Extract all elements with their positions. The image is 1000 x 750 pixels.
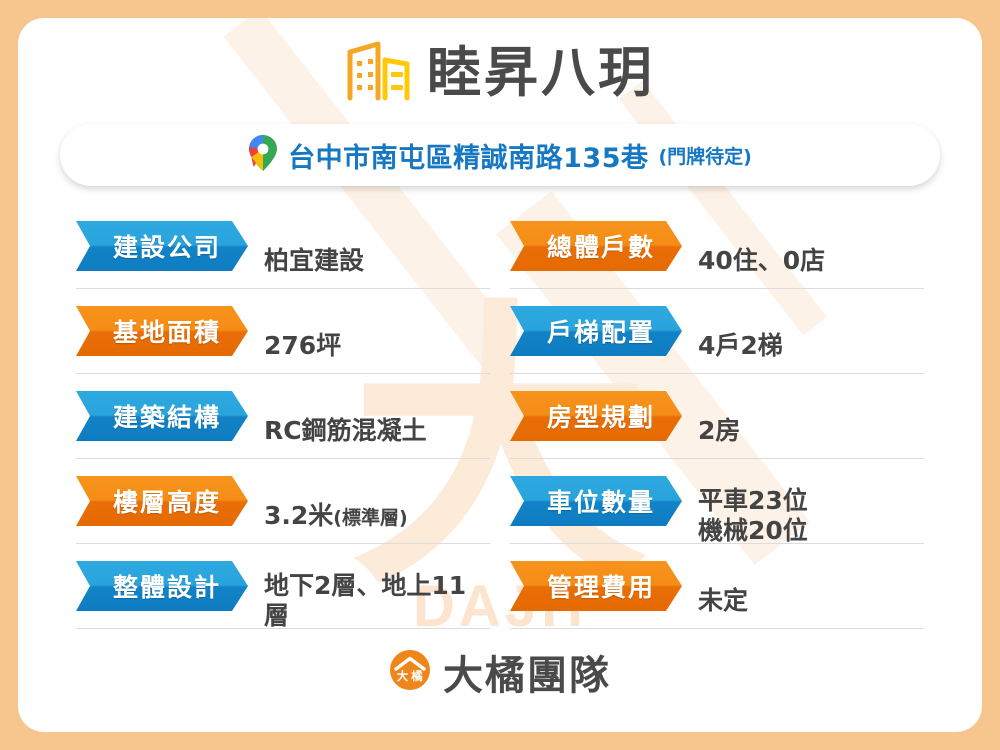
spec-value: 276坪: [264, 301, 341, 362]
spec-label: 管理費用: [537, 568, 655, 604]
spec-value-text: RC鋼筋混凝土: [264, 416, 427, 445]
spec-value: 未定: [698, 556, 748, 617]
page-title: 睦昇八玥: [427, 46, 655, 100]
map-pin-icon: [248, 134, 278, 177]
address-text: 台中市南屯區精誠南路135巷: [288, 136, 648, 175]
spec-label: 戶梯配置: [537, 313, 655, 349]
spec-row: 整體設計 地下2層、地上11層: [76, 544, 490, 629]
spec-value-text: 2房: [698, 416, 740, 445]
spec-label-chip: 建設公司: [76, 221, 248, 271]
spec-value-text: 未定: [698, 586, 748, 615]
spec-label-chip: 房型規劃: [510, 391, 682, 441]
spec-value: 地下2層、地上11層: [264, 540, 490, 632]
spec-row: 車位數量 平車23位 機械20位: [510, 459, 924, 544]
spec-label: 基地面積: [103, 313, 221, 349]
spec-label-chip: 管理費用: [510, 561, 682, 611]
spec-label: 整體設計: [103, 568, 221, 604]
spec-row: 房型規劃 2房: [510, 374, 924, 459]
spec-label-chip: 戶梯配置: [510, 306, 682, 356]
spec-value-text: 4戶2梯: [698, 331, 783, 360]
spec-label-chip: 建築結構: [76, 391, 248, 441]
spec-row: 總體戶數 40住、0店: [510, 204, 924, 289]
spec-value: 4戶2梯: [698, 301, 783, 362]
spec-value-text: 平車23位 機械20位: [698, 486, 808, 546]
spec-value: 3.2米(標準層): [264, 471, 408, 532]
spec-label: 建築結構: [103, 398, 221, 434]
spec-column-left: 建設公司 柏宜建設 基地面積 276坪 建築結構: [76, 204, 490, 629]
spec-row: 樓層高度 3.2米(標準層): [76, 459, 490, 544]
address-note: (門牌待定): [658, 142, 751, 169]
brand-name: 大橘團隊: [443, 643, 611, 701]
spec-row: 建設公司 柏宜建設: [76, 204, 490, 289]
spec-value: 平車23位 機械20位: [698, 455, 808, 547]
spec-value-text: 3.2米: [264, 501, 333, 530]
spec-value-text: 柏宜建設: [264, 246, 364, 275]
footer: 大 橘 大橘團隊: [18, 643, 982, 701]
spec-value: RC鋼筋混凝土: [264, 386, 427, 447]
address-bar[interactable]: 台中市南屯區精誠南路135巷 (門牌待定): [60, 124, 940, 186]
spec-row: 建築結構 RC鋼筋混凝土: [76, 374, 490, 459]
spec-value: 2房: [698, 386, 740, 447]
building-icon: [345, 40, 413, 107]
spec-row: 戶梯配置 4戶2梯: [510, 289, 924, 374]
spec-grid: 建設公司 柏宜建設 基地面積 276坪 建築結構: [76, 204, 924, 629]
spec-value: 40住、0店: [698, 216, 825, 277]
svg-text:橘: 橘: [410, 669, 423, 683]
spec-label: 房型規劃: [537, 398, 655, 434]
daju-roof-logo-icon: 大 橘: [389, 649, 431, 696]
spec-value-text: 40住、0店: [698, 246, 825, 275]
spec-value-suffix: (標準層): [333, 507, 407, 529]
spec-value: 柏宜建設: [264, 216, 364, 277]
info-card: 大 DAJH 睦昇八玥: [18, 18, 982, 732]
spec-label: 建設公司: [103, 228, 221, 264]
spec-row: 基地面積 276坪: [76, 289, 490, 374]
spec-label-chip: 基地面積: [76, 306, 248, 356]
spec-label: 樓層高度: [103, 483, 221, 519]
spec-row: 管理費用 未定: [510, 544, 924, 629]
spec-value-text: 地下2層、地上11層: [264, 571, 466, 631]
svg-text:大: 大: [397, 669, 409, 683]
spec-label-chip: 車位數量: [510, 476, 682, 526]
spec-column-right: 總體戶數 40住、0店 戶梯配置 4戶2梯 房型規劃: [510, 204, 924, 629]
spec-label: 車位數量: [537, 483, 655, 519]
spec-value-text: 276坪: [264, 331, 341, 360]
spec-label-chip: 整體設計: [76, 561, 248, 611]
header: 睦昇八玥: [18, 18, 982, 110]
page-border: 大 DAJH 睦昇八玥: [0, 0, 1000, 750]
spec-label-chip: 樓層高度: [76, 476, 248, 526]
spec-label-chip: 總體戶數: [510, 221, 682, 271]
spec-label: 總體戶數: [537, 228, 655, 264]
